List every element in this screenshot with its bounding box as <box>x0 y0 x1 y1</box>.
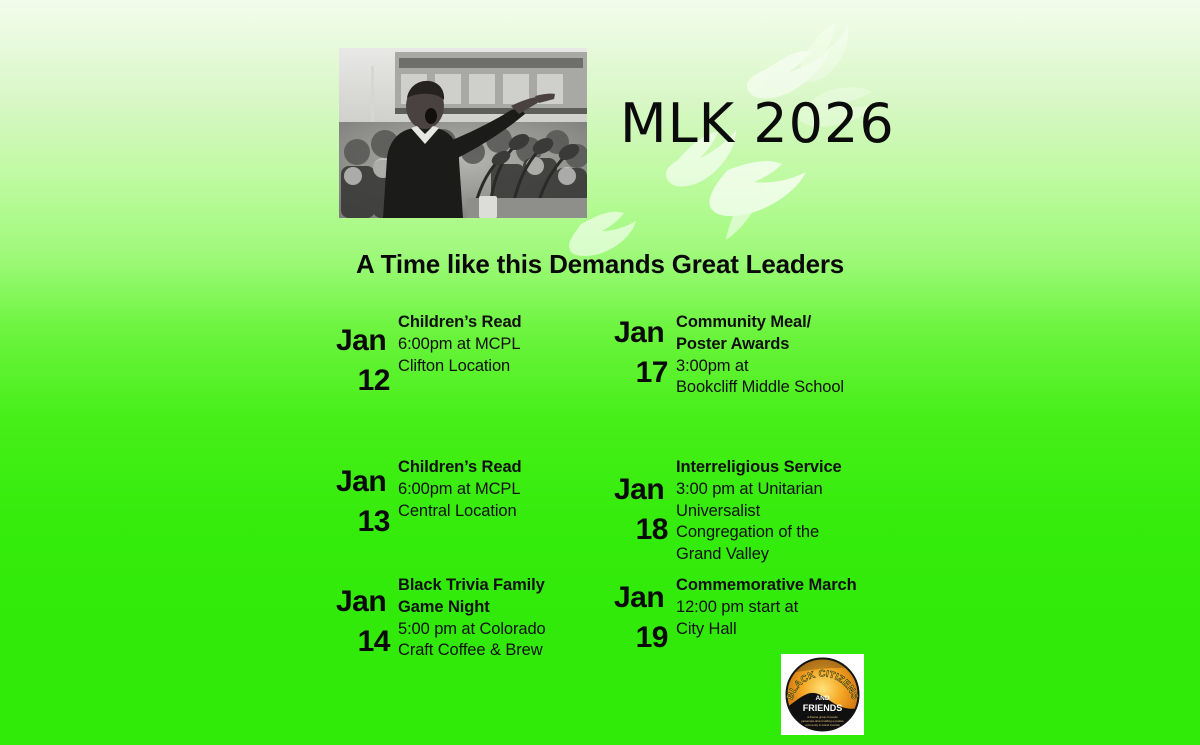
event-text: Commemorative March 12:00 pm start at Ci… <box>676 573 896 640</box>
svg-text:passionate about building a po: passionate about building a positive <box>801 719 844 723</box>
event-detail-line: Universalist <box>676 501 896 523</box>
event-text: Black Trivia Family Game Night 5:00 pm a… <box>398 573 614 662</box>
event-item: Jan 18 Interreligious Service 3:00 pm at… <box>614 455 896 573</box>
event-detail-line: Bookcliff Middle School <box>676 377 896 399</box>
event-month: Jan <box>336 326 390 356</box>
event-detail-line: City Hall <box>676 619 896 641</box>
event-name: Game Night <box>398 597 614 619</box>
events-grid: Jan 12 Children’s Read 6:00pm at MCPL Cl… <box>336 310 896 683</box>
svg-text:community in Grand Junction: community in Grand Junction <box>805 723 840 727</box>
event-date: Jan 19 <box>614 583 676 653</box>
event-name: Commemorative March <box>676 575 896 597</box>
event-detail-line: 3:00pm at <box>676 356 896 378</box>
tagline: A Time like this Demands Great Leaders <box>0 249 1200 280</box>
event-month: Jan <box>614 475 668 505</box>
event-date: Jan 17 <box>614 318 676 388</box>
event-date: Jan 14 <box>336 587 398 657</box>
event-date: Jan 18 <box>614 475 676 545</box>
event-date: Jan 13 <box>336 467 398 537</box>
event-name: Poster Awards <box>676 334 896 356</box>
event-month: Jan <box>614 318 668 348</box>
event-name: Interreligious Service <box>676 457 896 479</box>
event-name: Children’s Read <box>398 457 614 479</box>
mlk-photo <box>339 48 587 218</box>
event-name: Black Trivia Family <box>398 575 614 597</box>
event-detail-line: 12:00 pm start at <box>676 597 896 619</box>
event-day: 17 <box>614 358 668 388</box>
logo-line3: FRIENDS <box>803 703 843 713</box>
event-name: Children’s Read <box>398 312 614 334</box>
event-item: Jan 13 Children’s Read 6:00pm at MCPL Ce… <box>336 455 614 573</box>
events-row: Jan 12 Children’s Read 6:00pm at MCPL Cl… <box>336 310 896 455</box>
event-day: 19 <box>614 623 668 653</box>
event-detail-line: 6:00pm at MCPL <box>398 334 614 356</box>
event-month: Jan <box>336 587 390 617</box>
event-text: Children’s Read 6:00pm at MCPL Clifton L… <box>398 310 614 377</box>
event-day: 14 <box>336 627 390 657</box>
event-detail-line: 6:00pm at MCPL <box>398 479 614 501</box>
svg-text:A diverse group of people: A diverse group of people <box>807 715 838 719</box>
event-text: Community Meal/ Poster Awards 3:00pm at … <box>676 310 896 399</box>
event-item: Jan 17 Community Meal/ Poster Awards 3:0… <box>614 310 896 455</box>
event-text: Children’s Read 6:00pm at MCPL Central L… <box>398 455 614 522</box>
event-day: 18 <box>614 515 668 545</box>
event-text: Interreligious Service 3:00 pm at Unitar… <box>676 455 896 566</box>
event-detail-line: Congregation of the <box>676 522 896 544</box>
page-title: MLK 2026 <box>620 92 895 155</box>
event-name: Community Meal/ <box>676 312 896 334</box>
event-detail-line: Grand Valley <box>676 544 896 566</box>
mlk-2026-poster: MLK 2026 A Time like this Demands Great … <box>0 0 1200 745</box>
event-detail-line: 5:00 pm at Colorado <box>398 619 614 641</box>
event-item: Jan 14 Black Trivia Family Game Night 5:… <box>336 573 614 683</box>
events-row: Jan 13 Children’s Read 6:00pm at MCPL Ce… <box>336 455 896 573</box>
event-month: Jan <box>336 467 390 497</box>
event-detail-line: Clifton Location <box>398 356 614 378</box>
event-day: 13 <box>336 507 390 537</box>
event-month: Jan <box>614 583 668 613</box>
black-citizens-and-friends-logo: BLACK CITIZENS AND FRIENDS A diverse gro… <box>781 654 864 735</box>
event-detail-line: Craft Coffee & Brew <box>398 640 614 662</box>
logo-line2: AND <box>815 695 829 702</box>
event-item: Jan 12 Children’s Read 6:00pm at MCPL Cl… <box>336 310 614 455</box>
event-day: 12 <box>336 366 390 396</box>
event-detail-line: Central Location <box>398 501 614 523</box>
event-date: Jan 12 <box>336 326 398 396</box>
event-detail-line: 3:00 pm at Unitarian <box>676 479 896 501</box>
